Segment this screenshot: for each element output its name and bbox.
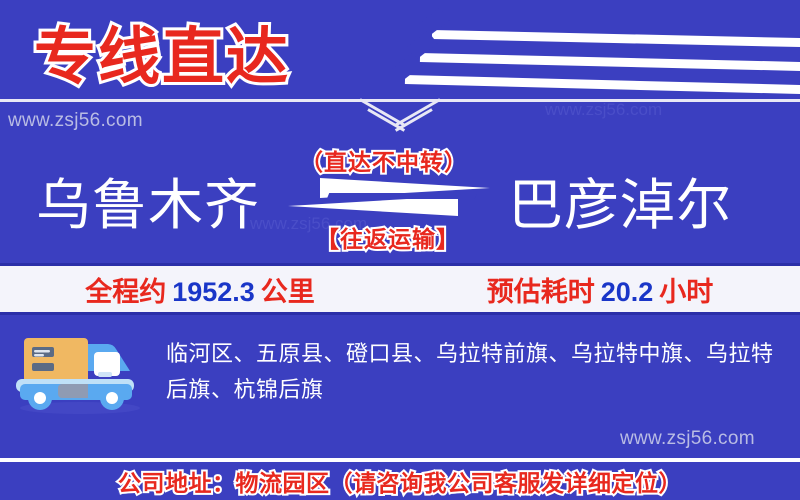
banner-headline: 专线直达	[34, 6, 290, 96]
duration-label: 预估耗时	[487, 277, 595, 307]
watermark-ghost-top-right: www.zsj56.com	[545, 100, 662, 120]
duration-unit: 小时	[659, 277, 713, 307]
footer-bar: 公司地址：物流园区（请咨询我公司客服发详细定位）	[0, 458, 800, 500]
bidirectional-arrow-icon	[288, 178, 488, 218]
arrow-divider	[327, 193, 477, 199]
distance-stat: 全程约1952.3公里	[0, 270, 400, 309]
logistics-route-banner: 专线直达 www.zsj56.com www.zsj56.com www.zsj…	[0, 0, 800, 500]
duration-stat: 预估耗时20.2小时	[400, 270, 800, 309]
company-address: 公司地址：物流园区（请咨询我公司客服发详细定位）	[118, 464, 682, 498]
diagonal-stripe-2	[420, 53, 800, 72]
origin-city: 乌鲁木齐	[36, 160, 260, 240]
chevron-down-icon-right-arm	[394, 98, 441, 127]
diagonal-stripe-3	[405, 75, 800, 95]
delivery-truck-icon	[10, 322, 150, 417]
distance-label: 全程约	[85, 277, 166, 307]
distance-value: 1952.3	[172, 277, 255, 307]
duration-value: 20.2	[601, 277, 654, 307]
arrow-left-icon	[288, 196, 458, 216]
header-divider-line	[0, 99, 800, 102]
distance-unit: 公里	[261, 277, 315, 307]
destination-city: 巴彦淖尔	[508, 160, 732, 240]
watermark-top: www.zsj56.com	[8, 110, 143, 132]
stats-bar: 全程约1952.3公里 预估耗时20.2小时	[0, 263, 800, 315]
coverage-areas: 临河区、五原县、磴口县、乌拉特前旗、乌拉特中旗、乌拉特后旗、杭锦后旗	[166, 336, 786, 408]
watermark-bottom: www.zsj56.com	[620, 428, 755, 450]
tagline-roundtrip: 【往返运输】	[316, 220, 460, 254]
tagline-direct: （直达不中转）	[300, 143, 468, 177]
diagonal-stripe-1	[432, 30, 800, 48]
